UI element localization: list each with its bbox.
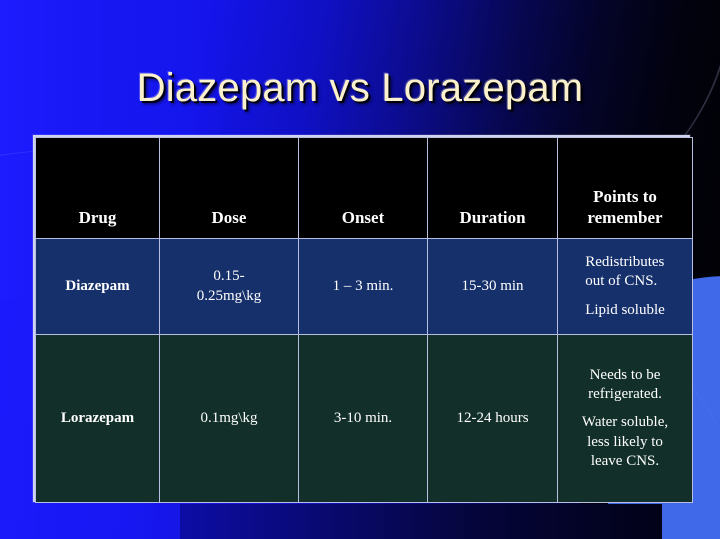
notes-block: Needs to be refrigerated. Water soluble,… xyxy=(582,366,668,471)
notes-line-2: out of CNS. xyxy=(585,272,665,291)
cell-drug-diazepam: Diazepam xyxy=(36,239,160,335)
table-row: Lorazepam 0.1mg\kg 3-10 min. 12-24 hours… xyxy=(36,335,693,503)
background-band-under-table xyxy=(180,504,662,539)
dose-line-1: 0.15- xyxy=(164,267,294,286)
notes-line-4: less likely to xyxy=(582,433,668,452)
notes-line-1: Needs to be xyxy=(582,366,668,385)
cell-drug-lorazepam: Lorazepam xyxy=(36,335,160,503)
comparison-table: Drug Dose Onset Duration Points to remem… xyxy=(33,135,690,502)
presentation-slide: Diazepam vs Lorazepam Drug Dose Onset Du… xyxy=(0,0,720,539)
drug-comparison-table: Drug Dose Onset Duration Points to remem… xyxy=(35,137,693,503)
notes-paragraph-1: Needs to be refrigerated. xyxy=(582,366,668,404)
notes-paragraph-2: Water soluble, less likely to leave CNS. xyxy=(582,413,668,471)
notes-line-3: Water soluble, xyxy=(582,413,668,432)
column-header-onset: Onset xyxy=(299,138,428,239)
notes-paragraph-2: Lipid soluble xyxy=(585,301,665,320)
notes-line-3: Lipid soluble xyxy=(585,301,665,320)
cell-duration-diazepam: 15-30 min xyxy=(428,239,558,335)
cell-dose-diazepam: 0.15- 0.25mg\kg xyxy=(160,239,299,335)
notes-line-2: refrigerated. xyxy=(582,385,668,404)
notes-paragraph-1: Redistributes out of CNS. xyxy=(585,253,665,291)
cell-onset-diazepam: 1 – 3 min. xyxy=(299,239,428,335)
slide-title: Diazepam vs Lorazepam xyxy=(0,66,720,111)
cell-points-diazepam: Redistributes out of CNS. Lipid soluble xyxy=(558,239,693,335)
column-header-drug: Drug xyxy=(36,138,160,239)
points-header-line-2: remember xyxy=(562,207,688,229)
cell-dose-lorazepam: 0.1mg\kg xyxy=(160,335,299,503)
column-header-dose: Dose xyxy=(160,138,299,239)
column-header-duration: Duration xyxy=(428,138,558,239)
cell-onset-lorazepam: 3-10 min. xyxy=(299,335,428,503)
cell-points-lorazepam: Needs to be refrigerated. Water soluble,… xyxy=(558,335,693,503)
column-header-points-to-remember: Points to remember xyxy=(558,138,693,239)
table-row: Diazepam 0.15- 0.25mg\kg 1 – 3 min. 15-3… xyxy=(36,239,693,335)
points-header-line-1: Points to xyxy=(562,186,688,208)
table-header-row: Drug Dose Onset Duration Points to remem… xyxy=(36,138,693,239)
dose-line-2: 0.25mg\kg xyxy=(164,287,294,306)
cell-duration-lorazepam: 12-24 hours xyxy=(428,335,558,503)
notes-line-1: Redistributes xyxy=(585,253,665,272)
notes-block: Redistributes out of CNS. Lipid soluble xyxy=(585,253,665,320)
notes-line-5: leave CNS. xyxy=(582,452,668,471)
